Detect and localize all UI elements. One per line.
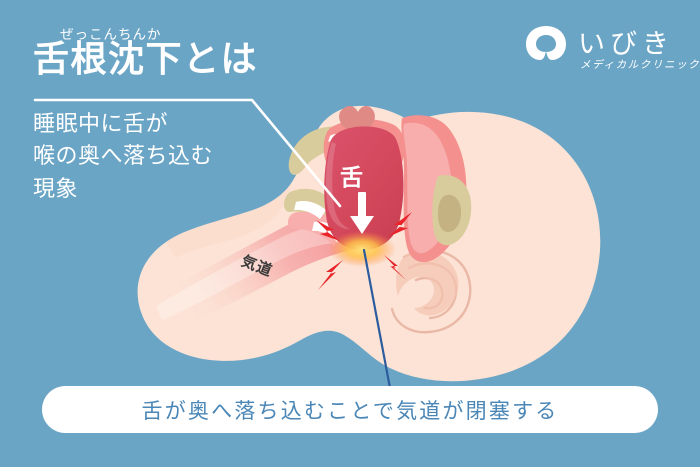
infographic-canvas: ぜっこんちんか 舌根沈下とは 睡眠中に舌が 喉の奥へ落ち込む 現象 いびき メデ… [0,0,700,467]
brand-tagline: メディカルクリニック [580,57,700,72]
summary-banner: 舌が奥へ落ち込むことで気道が閉塞する [42,386,658,433]
blockage-glow [328,231,396,267]
page-title: 舌根沈下とは [33,38,258,79]
brand-name: いびき [578,22,674,61]
page-description: 睡眠中に舌が 喉の奥へ落ち込む 現象 [33,108,213,205]
brand-logo[interactable]: いびき メディカルクリニック [524,18,684,80]
tongue-label: 舌 [340,158,364,192]
summary-banner-text: 舌が奥へ落ち込むことで気道が閉塞する [142,395,559,425]
tooth-icon [524,24,568,62]
